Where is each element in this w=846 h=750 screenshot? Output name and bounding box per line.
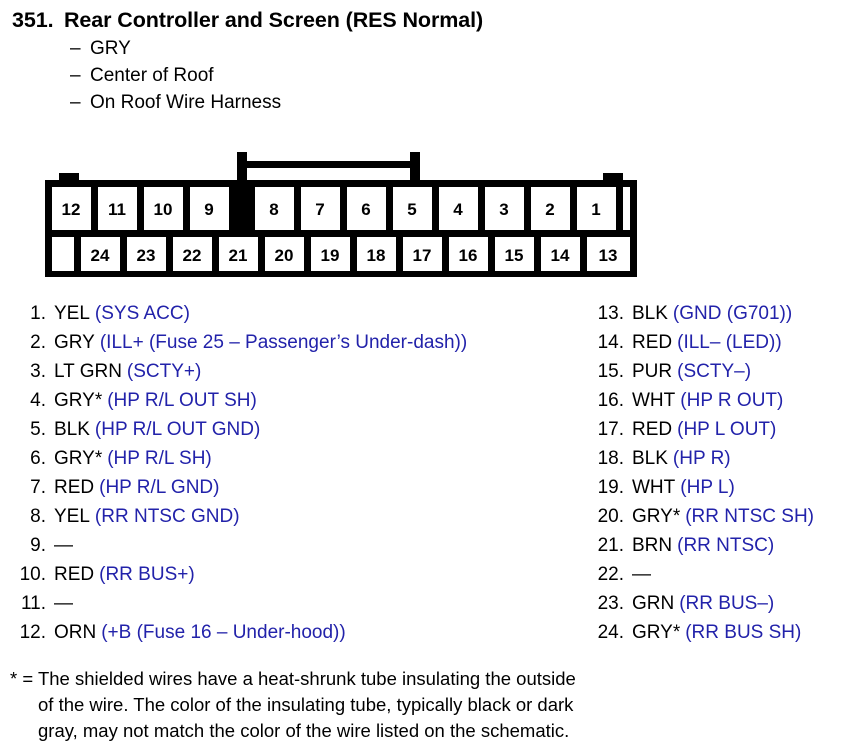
pin-index: 6. [8, 448, 54, 470]
pin-row: 11. — [8, 593, 568, 622]
footnote-line: * = The shielded wires have a heat-shrun… [10, 666, 710, 692]
circuit-description: (HP R OUT) [675, 390, 783, 411]
pin-entry: — [54, 593, 78, 615]
footnote-line: of the wire. The color of the insulating… [10, 692, 710, 718]
pin-entry: RED(RR BUS+) [54, 564, 195, 586]
wire-color: GRY [54, 332, 95, 353]
dash-marker: – [70, 38, 90, 60]
pin-row: 20. GRY*(RR NTSC SH) [586, 506, 846, 535]
circuit-description: (+B (Fuse 16 – Under-hood)) [96, 622, 345, 643]
pin-entry: BRN(RR NTSC) [632, 535, 774, 557]
pin-entry: GRY*(RR NTSC SH) [632, 506, 814, 528]
pin-number: 22 [183, 246, 202, 265]
pin-number: 1 [591, 200, 600, 219]
pin-entry: BLK(GND (G701)) [632, 303, 792, 325]
circuit-description: (RR NTSC GND) [90, 506, 240, 527]
pin-row: 17. RED(HP L OUT) [586, 419, 846, 448]
pin-index: 9. [8, 535, 54, 557]
circuit-description: (HP L OUT) [672, 419, 776, 440]
pin-index: 16. [586, 390, 632, 412]
pin-row: 18. BLK(HP R) [586, 448, 846, 477]
pin-entry: RED(HP R/L GND) [54, 477, 219, 499]
pin-index: 17. [586, 419, 632, 441]
pin-row: 9. — [8, 535, 568, 564]
dash-marker: – [70, 65, 90, 87]
circuit-description: (ILL+ (Fuse 25 – Passenger’s Under-dash)… [95, 332, 467, 353]
circuit-description [73, 593, 78, 614]
pin-number: 16 [459, 246, 478, 265]
circuit-description: (SCTY–) [672, 361, 751, 382]
pin-index: 10. [8, 564, 54, 586]
pin-entry: GRY*(RR BUS SH) [632, 622, 801, 644]
wire-color: PUR [632, 361, 672, 382]
dash-marker: – [70, 92, 90, 114]
circuit-description: (HP R/L SH) [102, 448, 212, 469]
circuit-description [651, 564, 656, 585]
subtitle-line: – On Roof Wire Harness [12, 92, 832, 114]
connector-diagram: 12 11 10 9 8 7 6 5 4 3 2 1 24 23 22 21 2… [45, 147, 637, 279]
pin-entry: YEL(RR NTSC GND) [54, 506, 240, 528]
pin-row: 16. WHT(HP R OUT) [586, 390, 846, 419]
heading-block: 351. Rear Controller and Screen (RES Nor… [12, 8, 832, 114]
pin-number: 4 [453, 200, 463, 219]
footnote-line: gray, may not match the color of the wir… [10, 718, 710, 744]
circuit-description: (SCTY+) [122, 361, 201, 382]
pin-entry: GRY(ILL+ (Fuse 25 – Passenger’s Under-da… [54, 332, 467, 354]
pin-index: 19. [586, 477, 632, 499]
pin-number: 7 [315, 200, 324, 219]
pin-index: 21. [586, 535, 632, 557]
pin-entry: RED(ILL– (LED)) [632, 332, 782, 354]
wire-color: WHT [632, 390, 675, 411]
pin-number: 6 [361, 200, 370, 219]
circuit-description: (RR BUS+) [94, 564, 195, 585]
wire-color: RED [632, 332, 672, 353]
subtitle-line: – Center of Roof [12, 65, 832, 87]
pin-row: 21. BRN(RR NTSC) [586, 535, 846, 564]
pin-index: 4. [8, 390, 54, 412]
wire-color: WHT [632, 477, 675, 498]
pin-number: 9 [204, 200, 213, 219]
circuit-description: (HP R/L GND) [94, 477, 219, 498]
pin-number: 14 [551, 246, 570, 265]
circuit-description: (GND (G701)) [668, 303, 792, 324]
pin-row: 7. RED(HP R/L GND) [8, 477, 568, 506]
pin-entry: BLK(HP R) [632, 448, 731, 470]
circuit-description: (RR BUS–) [674, 593, 774, 614]
wire-color: GRY* [54, 390, 102, 411]
wire-color: RED [632, 419, 672, 440]
wire-color: ORN [54, 622, 96, 643]
pin-number: 10 [154, 200, 173, 219]
pin-index: 24. [586, 622, 632, 644]
page-title: 351. Rear Controller and Screen (RES Nor… [12, 8, 832, 33]
pin-index: 22. [586, 564, 632, 586]
circuit-description: (HP L) [675, 477, 735, 498]
pin-number: 19 [321, 246, 340, 265]
pin-index: 8. [8, 506, 54, 528]
pin-row: 13. BLK(GND (G701)) [586, 303, 846, 332]
pin-index: 1. [8, 303, 54, 325]
pin-number: 18 [367, 246, 386, 265]
pin-row: 8. YEL(RR NTSC GND) [8, 506, 568, 535]
pin-entry: PUR(SCTY–) [632, 361, 751, 383]
pin-index: 5. [8, 419, 54, 441]
circuit-description: (RR NTSC SH) [680, 506, 814, 527]
circuit-description: (RR BUS SH) [680, 622, 801, 643]
wire-color: YEL [54, 506, 90, 527]
pin-entry: GRY*(HP R/L OUT SH) [54, 390, 257, 412]
pin-row: 1. YEL(SYS ACC) [8, 303, 568, 332]
wire-color: — [54, 593, 73, 614]
pin-index: 3. [8, 361, 54, 383]
pin-number: 12 [62, 200, 81, 219]
pin-number: 20 [275, 246, 294, 265]
pin-number: 11 [108, 200, 126, 219]
circuit-description: (HP R/L OUT GND) [90, 419, 260, 440]
pin-row: 22. — [586, 564, 846, 593]
wire-color: — [632, 564, 651, 585]
pin-row: 5. BLK(HP R/L OUT GND) [8, 419, 568, 448]
pin-number: 13 [599, 246, 618, 265]
wire-color: LT GRN [54, 361, 122, 382]
wire-color: BLK [632, 303, 668, 324]
wire-color: GRY* [632, 622, 680, 643]
pin-row: 6. GRY*(HP R/L SH) [8, 448, 568, 477]
pin-index: 11. [8, 593, 54, 615]
footnote: * = The shielded wires have a heat-shrun… [10, 666, 710, 744]
pin-index: 7. [8, 477, 54, 499]
pin-row: 12. ORN(+B (Fuse 16 – Under-hood)) [8, 622, 568, 651]
pin-entry: GRY*(HP R/L SH) [54, 448, 212, 470]
pin-number: 8 [269, 200, 278, 219]
pin-number: 24 [91, 246, 110, 265]
pin-row: 24. GRY*(RR BUS SH) [586, 622, 846, 651]
pin-number: 15 [505, 246, 524, 265]
pin-entry: YEL(SYS ACC) [54, 303, 190, 325]
pin-index: 2. [8, 332, 54, 354]
pin-number: 23 [137, 246, 156, 265]
wire-color: BLK [632, 448, 668, 469]
pin-entry: WHT(HP R OUT) [632, 390, 783, 412]
circuit-description: (RR NTSC) [672, 535, 774, 556]
subtitle-text: Center of Roof [90, 65, 214, 87]
pin-number: 21 [229, 246, 248, 265]
pin-index: 15. [586, 361, 632, 383]
pin-entry: WHT(HP L) [632, 477, 735, 499]
pin-number: 3 [499, 200, 508, 219]
wire-color: BLK [54, 419, 90, 440]
pin-entry: — [632, 564, 656, 586]
page-title-text: Rear Controller and Screen (RES Normal) [64, 8, 483, 33]
wire-color: BRN [632, 535, 672, 556]
pin-entry: ORN(+B (Fuse 16 – Under-hood)) [54, 622, 346, 644]
circuit-description: (SYS ACC) [90, 303, 190, 324]
wire-color: GRY* [54, 448, 102, 469]
pin-number: 2 [545, 200, 554, 219]
pin-number: 17 [413, 246, 432, 265]
pin-number: 5 [407, 200, 416, 219]
pin-row: 19. WHT(HP L) [586, 477, 846, 506]
pin-index: 23. [586, 593, 632, 615]
circuit-description [73, 535, 78, 556]
pin-entry: BLK(HP R/L OUT GND) [54, 419, 260, 441]
pin-row: 15. PUR(SCTY–) [586, 361, 846, 390]
pin-index: 14. [586, 332, 632, 354]
subtitle-line: – GRY [12, 38, 832, 60]
pin-index: 18. [586, 448, 632, 470]
pin-row: 10. RED(RR BUS+) [8, 564, 568, 593]
circuit-description: (HP R) [668, 448, 731, 469]
circuit-description: (HP R/L OUT SH) [102, 390, 257, 411]
subtitle-text: On Roof Wire Harness [90, 92, 281, 114]
pin-row: 2. GRY(ILL+ (Fuse 25 – Passenger’s Under… [8, 332, 568, 361]
circuit-description: (ILL– (LED)) [672, 332, 782, 353]
wire-color: GRN [632, 593, 674, 614]
pin-entry: LT GRN(SCTY+) [54, 361, 201, 383]
pin-entry: RED(HP L OUT) [632, 419, 776, 441]
pin-index: 12. [8, 622, 54, 644]
pin-index: 13. [586, 303, 632, 325]
pin-list-right: 13. BLK(GND (G701)) 14. RED(ILL– (LED)) … [586, 303, 846, 651]
wire-color: GRY* [632, 506, 680, 527]
pin-index: 20. [586, 506, 632, 528]
pin-entry: — [54, 535, 78, 557]
pin-entry: GRN(RR BUS–) [632, 593, 774, 615]
pin-row: 4. GRY*(HP R/L OUT SH) [8, 390, 568, 419]
wire-color: RED [54, 477, 94, 498]
pin-row: 14. RED(ILL– (LED)) [586, 332, 846, 361]
wire-color: YEL [54, 303, 90, 324]
wire-color: RED [54, 564, 94, 585]
subtitle-text: GRY [90, 38, 131, 60]
pin-row: 3. LT GRN(SCTY+) [8, 361, 568, 390]
wire-color: — [54, 535, 73, 556]
page-number: 351. [12, 8, 64, 33]
pin-row: 23. GRN(RR BUS–) [586, 593, 846, 622]
pin-list-left: 1. YEL(SYS ACC) 2. GRY(ILL+ (Fuse 25 – P… [8, 303, 568, 651]
